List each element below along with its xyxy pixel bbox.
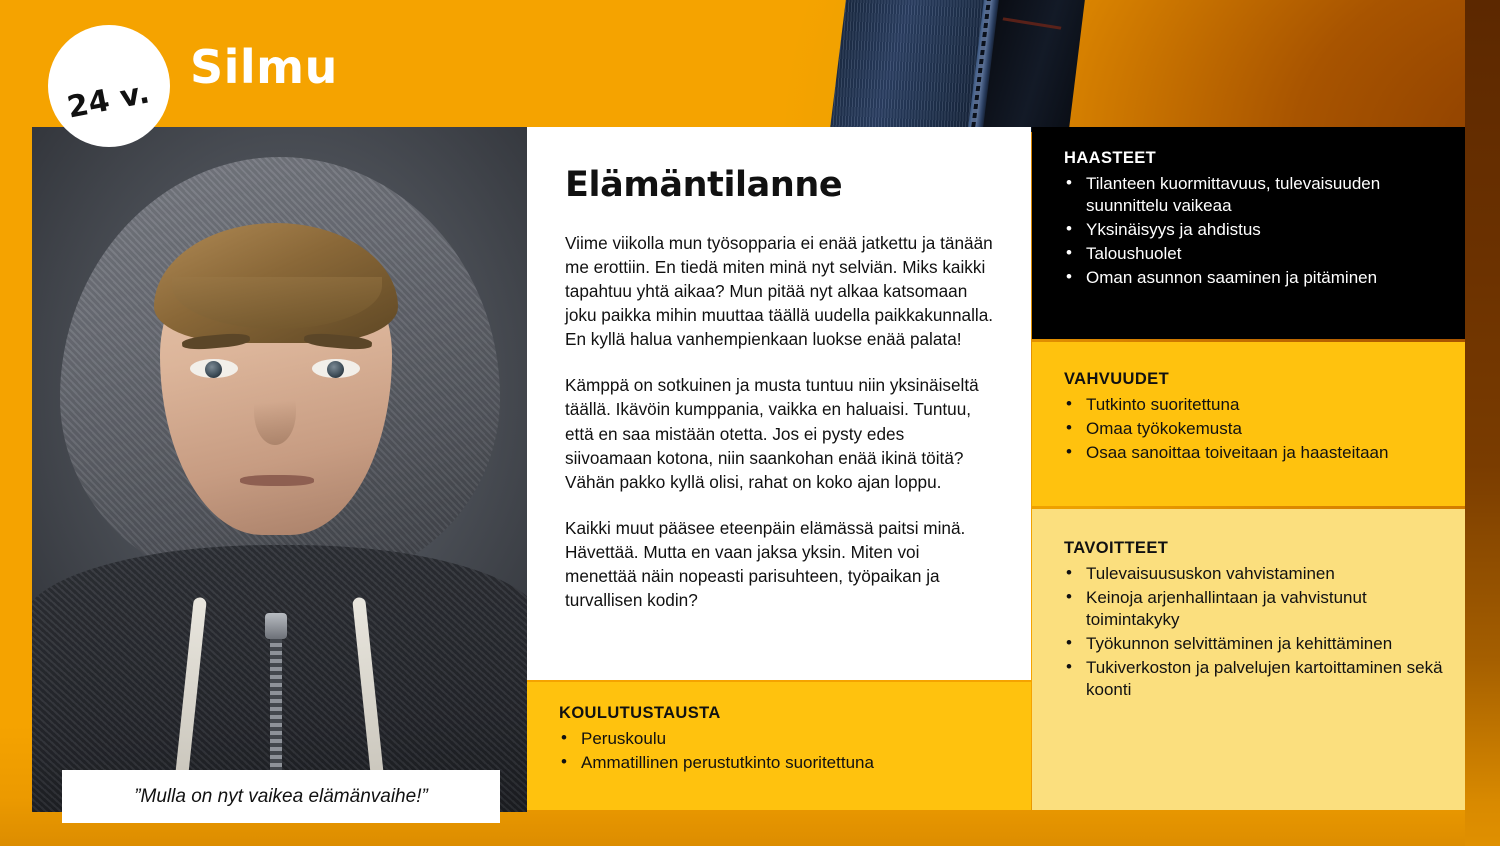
list-item: Tutkinto suoritettuna [1064, 394, 1443, 416]
education-list: Peruskoulu Ammatillinen perustutkinto su… [559, 728, 1003, 774]
strengths-list: Tutkinto suoritettuna Omaa työkokemusta … [1064, 394, 1443, 464]
life-situation-paragraph: Kaikki muut pääsee eteenpäin elämässä pa… [565, 516, 995, 612]
life-situation-paragraph: Viime viikolla mun työsopparia ei enää j… [565, 231, 995, 351]
goals-heading: TAVOITTEET [1064, 539, 1443, 558]
life-situation-paragraph: Kämppä on sotkuinen ja musta tuntuu niin… [565, 373, 995, 493]
challenges-list: Tilanteen kuormittavuus, tulevaisuuden s… [1064, 173, 1443, 289]
nose-shape [254, 379, 296, 445]
list-item: Tulevaisuususkon vahvistaminen [1064, 563, 1443, 585]
education-background-panel: KOULUTUSTAUSTA Peruskoulu Ammatillinen p… [527, 682, 1031, 810]
life-situation-heading: Elämäntilanne [565, 165, 995, 205]
list-item: Työkunnon selvittäminen ja kehittäminen [1064, 633, 1443, 655]
list-item: Tukiverkoston ja palvelujen kartoittamin… [1064, 657, 1443, 701]
list-item: Osaa sanoittaa toiveitaan ja haasteitaan [1064, 442, 1443, 464]
life-situation-card: Elämäntilanne Viime viikolla mun työsopp… [527, 127, 1031, 680]
strengths-heading: VAHVUUDET [1064, 370, 1443, 389]
age-badge: 24 v. [48, 25, 170, 147]
eye-right-shape [312, 359, 360, 378]
persona-portrait-photo [32, 127, 527, 812]
challenges-panel: HAASTEET Tilanteen kuormittavuus, tuleva… [1032, 127, 1465, 339]
list-item: Taloushuolet [1064, 243, 1443, 265]
list-item: Tilanteen kuormittavuus, tulevaisuuden s… [1064, 173, 1443, 217]
list-item: Ammatillinen perustutkinto suoritettuna [559, 752, 1003, 774]
right-edge-strip [1465, 0, 1500, 846]
list-item: Peruskoulu [559, 728, 1003, 750]
education-heading: KOULUTUSTAUSTA [559, 704, 1003, 723]
persona-quote-box: ”Mulla on nyt vaikea elämänvaihe!” [62, 770, 500, 823]
list-item: Omaa työkokemusta [1064, 418, 1443, 440]
list-item: Oman asunnon saaminen ja pitäminen [1064, 267, 1443, 289]
goals-panel: TAVOITTEET Tulevaisuususkon vahvistamine… [1032, 509, 1465, 810]
challenges-heading: HAASTEET [1064, 149, 1443, 168]
persona-slide: 24 v. Silmu ”Mulla on nyt vaikea elämänv… [0, 0, 1500, 846]
list-item: Yksinäisyys ja ahdistus [1064, 219, 1443, 241]
denim-jeans-decoration-image [820, 0, 1117, 132]
goals-list: Tulevaisuususkon vahvistaminen Keinoja a… [1064, 563, 1443, 702]
list-item: Keinoja arjenhallintaan ja vahvistunut t… [1064, 587, 1443, 631]
strengths-panel: VAHVUUDET Tutkinto suoritettuna Omaa työ… [1032, 342, 1465, 506]
mouth-shape [240, 475, 314, 486]
age-badge-label: 24 v. [65, 75, 153, 125]
eye-left-shape [190, 359, 238, 378]
denim-shadow-shape [982, 0, 1085, 132]
page-title: Silmu [190, 40, 338, 94]
persona-quote-text: ”Mulla on nyt vaikea elämänvaihe!” [134, 786, 428, 808]
